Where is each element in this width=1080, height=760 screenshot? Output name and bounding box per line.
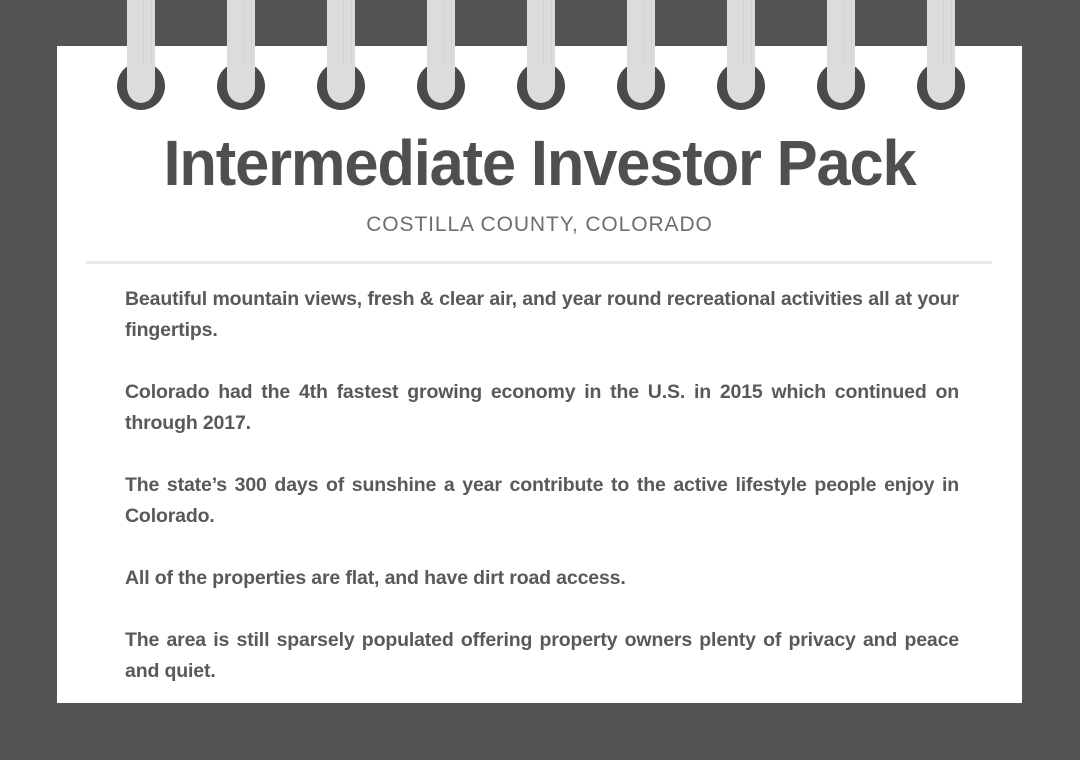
- paragraph: Beautiful mountain views, fresh & clear …: [125, 284, 959, 346]
- document-page: Intermediate Investor Pack COSTILLA COUN…: [57, 46, 1022, 703]
- page-title: Intermediate Investor Pack: [76, 130, 1002, 197]
- header-divider: [86, 261, 992, 264]
- paragraph: The state’s 300 days of sunshine a year …: [125, 470, 959, 532]
- paragraph: The area is still sparsely populated off…: [125, 625, 959, 687]
- page-subtitle: COSTILLA COUNTY, COLORADO: [57, 213, 1022, 237]
- paragraph: Colorado had the 4th fastest growing eco…: [125, 377, 959, 439]
- paragraph: All of the properties are flat, and have…: [125, 563, 959, 594]
- document-header: Intermediate Investor Pack COSTILLA COUN…: [57, 130, 1022, 237]
- body-copy: Beautiful mountain views, fresh & clear …: [125, 284, 959, 687]
